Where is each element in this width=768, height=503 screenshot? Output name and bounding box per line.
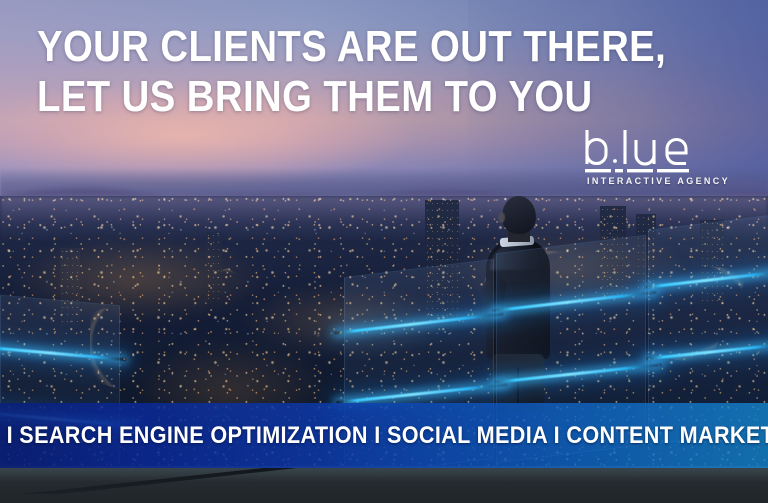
services-banner-text: PPC I SEARCH ENGINE OPTIMIZATION I SOCIA… — [0, 422, 768, 450]
ear — [498, 212, 505, 223]
page-title: YOUR CLIENTS ARE OUT THERE, LET US BRING… — [37, 22, 524, 122]
businessman-figure — [478, 196, 558, 411]
headline-line-1: YOUR CLIENTS ARE OUT THERE, — [37, 22, 524, 72]
logo-wordmark-blue — [583, 128, 723, 174]
services-banner[interactable]: PPC I SEARCH ENGINE OPTIMIZATION I SOCIA… — [0, 403, 768, 468]
logo-tagline: INTERACTIVE AGENCY — [587, 176, 730, 186]
head — [502, 196, 536, 234]
headline-line-2: LET US BRING THEM TO YOU — [37, 72, 524, 122]
floor-sheen — [0, 466, 768, 482]
brand-logo[interactable]: INTERACTIVE AGENCY — [583, 128, 723, 194]
promotional-banner: YOUR CLIENTS ARE OUT THERE, LET US BRING… — [0, 0, 768, 503]
